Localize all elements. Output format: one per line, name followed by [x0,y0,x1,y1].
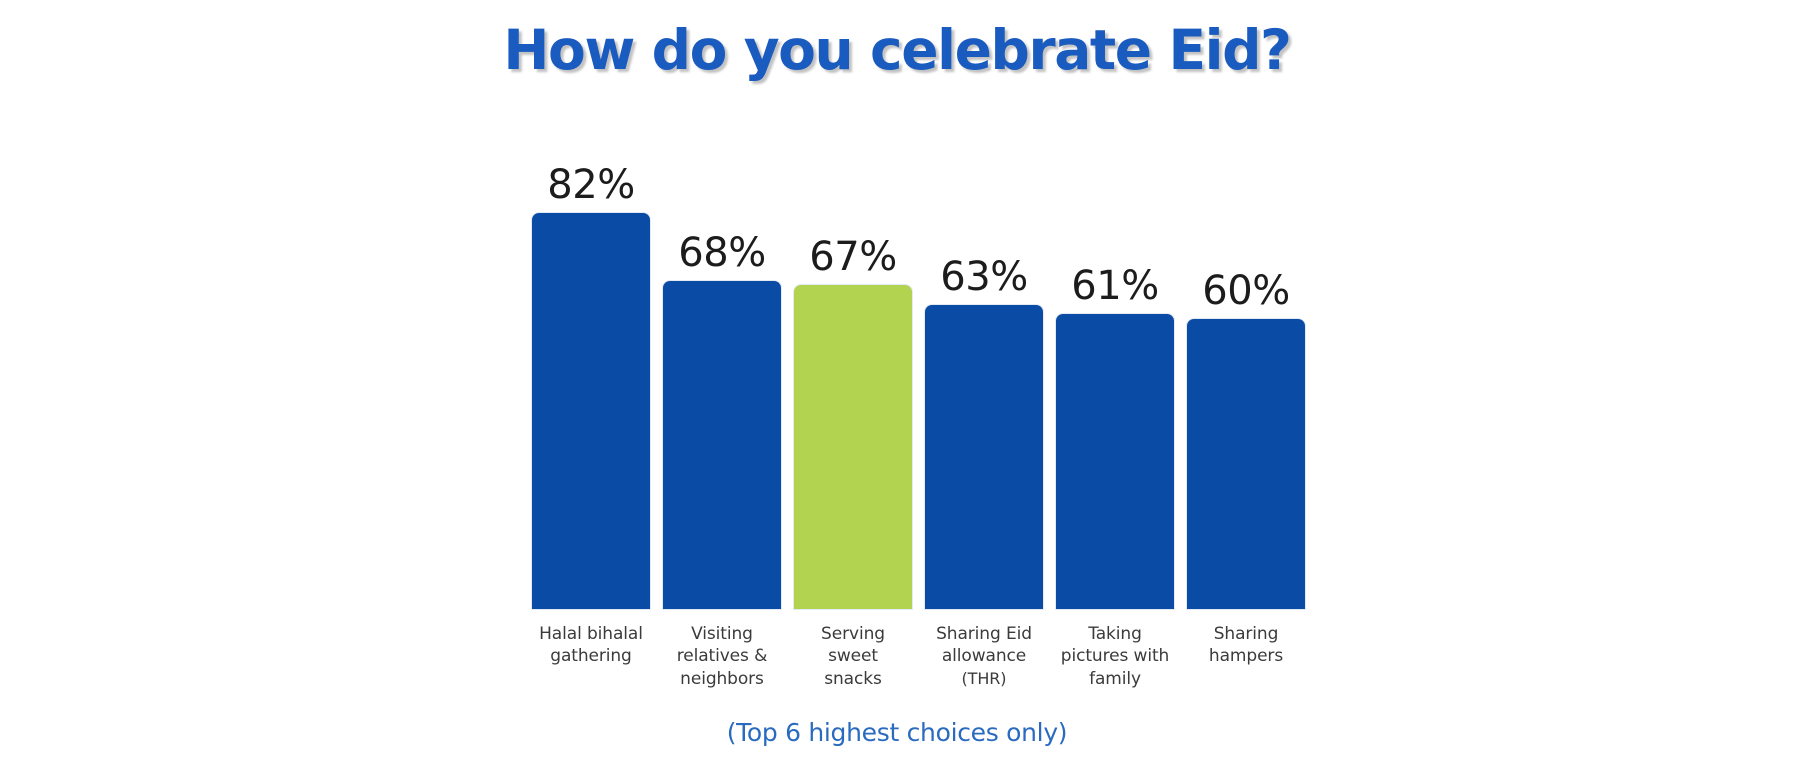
bar-category-label-line: Sharing [1159,623,1333,645]
bar-category-label-line: hampers [1159,645,1333,667]
bar-category-label: Sharinghampers [1159,623,1333,668]
bar[interactable] [1187,319,1305,609]
chart-footnote: (Top 6 highest choices only) [0,718,1794,747]
bar[interactable] [794,285,912,609]
bar-category-label-line: family [1028,668,1202,690]
slide-canvas: How do you celebrate Eid? 82%Halal bihal… [0,0,1794,765]
bar[interactable] [663,281,781,609]
bar-chart-plot-area: 82%Halal bihalalgathering68%Visitingrela… [0,0,1794,765]
bar[interactable] [1056,314,1174,609]
bar-value-label: 82% [506,165,676,205]
bar-value-label: 60% [1161,271,1331,311]
bar[interactable] [925,305,1043,609]
bar[interactable] [532,213,650,609]
